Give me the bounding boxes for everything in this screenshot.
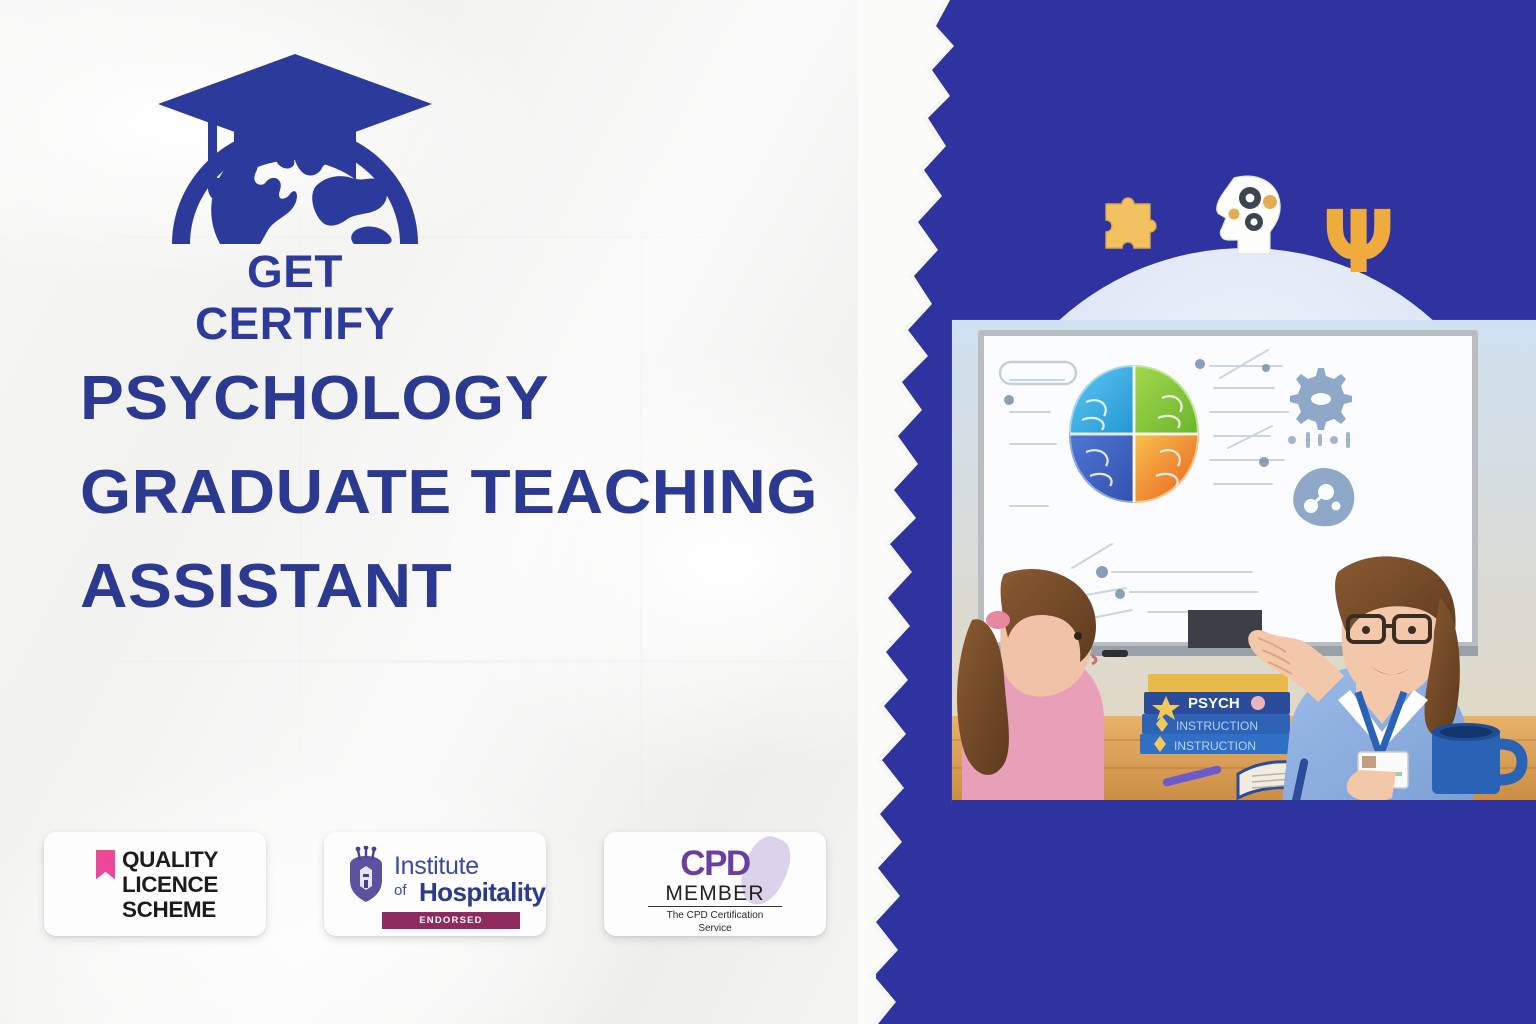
badge-institute-of-hospitality: Institute of Hospitality ENDORSED xyxy=(324,832,546,936)
paper-crease xyxy=(0,236,980,238)
qls-line-1: QUALITY xyxy=(122,847,218,872)
svg-text:PSYCH: PSYCH xyxy=(1188,695,1240,712)
logo-wordmark: GET CERTIFY xyxy=(147,246,443,350)
cpd-line-1: CPD xyxy=(604,844,826,884)
title-line-3: ASSISTANT xyxy=(80,540,886,634)
head-with-gears-icon xyxy=(1210,170,1286,262)
badge-quality-licence-scheme: QUALITY LICENCE SCHEME xyxy=(44,832,266,936)
ioh-banner-label: ENDORSED xyxy=(419,915,482,926)
svg-text:INSTRUCTION: INSTRUCTION xyxy=(1174,739,1256,753)
puzzle-piece-icon xyxy=(1098,192,1164,254)
ioh-endorsed-banner: ENDORSED xyxy=(382,912,520,929)
illustration-footer-blue xyxy=(952,800,1536,1024)
cpd-divider xyxy=(648,906,782,907)
ioh-of: of xyxy=(394,882,407,899)
page-title: PSYCHOLOGY GRADUATE TEACHING ASSISTANT xyxy=(80,352,840,634)
brand-logo: GET CERTIFY xyxy=(150,48,440,308)
classroom-illustration: PSYCH INSTRUCTION INSTRUCTION xyxy=(952,320,1536,804)
title-line-1: PSYCHOLOGY xyxy=(80,352,886,446)
cpd-line-4: Service xyxy=(604,922,826,935)
badge-cpd-member: CPD MEMBER The CPD Certification Service xyxy=(604,832,826,936)
psi-symbol-icon: Ψ xyxy=(1322,206,1388,286)
ioh-line-2: Hospitality xyxy=(419,877,545,908)
qls-line-3: SCHEME xyxy=(122,897,218,922)
promo-banner: GET CERTIFY PSYCHOLOGY GRADUATE TEACHING… xyxy=(0,0,1536,1024)
paper-crease xyxy=(0,660,980,663)
cpd-line-2: MEMBER xyxy=(604,882,826,906)
cpd-line-3: The CPD Certification xyxy=(604,909,826,922)
heraldic-crest-icon xyxy=(340,846,392,904)
graduation-cap-globe-icon xyxy=(150,48,440,253)
title-line-2: GRADUATE TEACHING xyxy=(80,446,886,540)
accreditation-badges: QUALITY LICENCE SCHEME Institute xyxy=(44,832,826,936)
ribbon-bookmark-icon xyxy=(96,850,115,880)
svg-text:INSTRUCTION: INSTRUCTION xyxy=(1176,719,1258,733)
qls-line-2: LICENCE xyxy=(122,872,218,897)
